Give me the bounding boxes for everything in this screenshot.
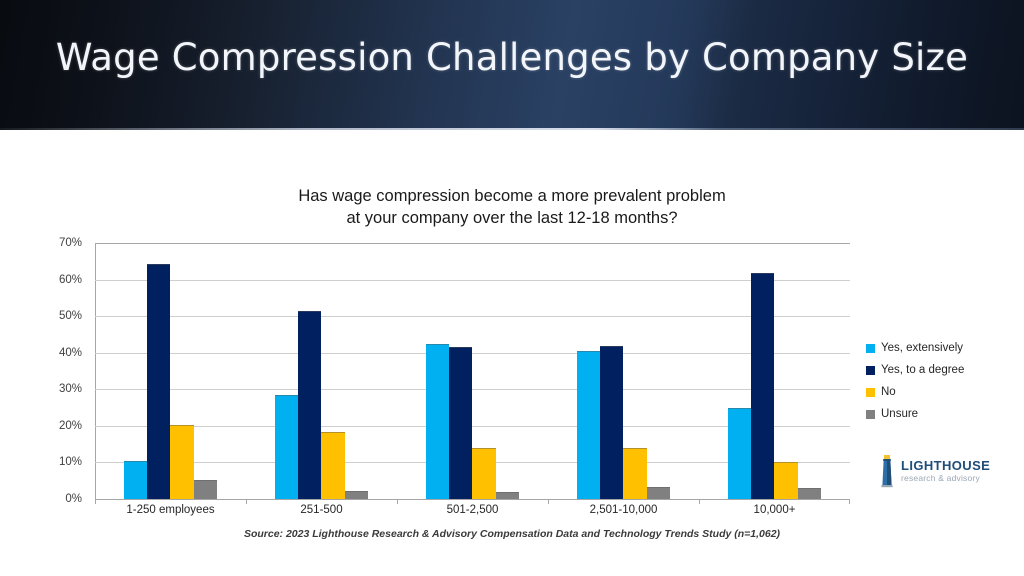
slide-header-banner: Wage Compression Challenges by Company S… bbox=[0, 0, 1024, 130]
chart-title-line-1: Has wage compression become a more preva… bbox=[112, 185, 912, 207]
legend-label: Unsure bbox=[881, 408, 918, 420]
x-axis-category-label: 251-500 bbox=[300, 504, 342, 516]
x-axis-category-labels: 1-250 employees251-500501-2,5002,501-10,… bbox=[95, 504, 850, 524]
bar bbox=[472, 448, 495, 499]
source-note: Source: 2023 Lighthouse Research & Advis… bbox=[0, 528, 1024, 540]
page-title: Wage Compression Challenges by Company S… bbox=[0, 36, 1024, 79]
bar bbox=[647, 487, 670, 499]
bar-top-edge bbox=[194, 480, 217, 481]
plot-area bbox=[95, 243, 850, 499]
x-axis-category-label: 10,000+ bbox=[754, 504, 796, 516]
bar bbox=[321, 432, 344, 499]
chart-region: Has wage compression become a more preva… bbox=[0, 130, 1024, 576]
legend-swatch-icon bbox=[866, 410, 875, 419]
legend-item[interactable]: Unsure bbox=[866, 403, 1016, 425]
legend-swatch-icon bbox=[866, 344, 875, 353]
bar bbox=[774, 462, 797, 499]
bar bbox=[426, 344, 449, 499]
bar-group bbox=[124, 243, 218, 499]
chart-title: Has wage compression become a more preva… bbox=[112, 185, 912, 230]
bar bbox=[751, 273, 774, 499]
lighthouse-icon bbox=[878, 454, 896, 488]
y-axis-tick-label: 20% bbox=[59, 420, 82, 432]
logo-tagline: research & advisory bbox=[901, 473, 990, 483]
bars-layer bbox=[95, 243, 850, 499]
chart-title-line-2: at your company over the last 12-18 mont… bbox=[112, 207, 912, 229]
bar bbox=[577, 351, 600, 499]
bar bbox=[623, 448, 646, 499]
bar-group bbox=[728, 243, 822, 499]
bar-group bbox=[577, 243, 671, 499]
y-axis-labels: 0%10%20%30%40%50%60%70% bbox=[0, 243, 88, 500]
x-axis-category-label: 501-2,500 bbox=[447, 504, 499, 516]
legend-label: No bbox=[881, 386, 896, 398]
bar bbox=[496, 492, 519, 499]
bar-top-edge bbox=[124, 461, 147, 462]
bar-group bbox=[426, 243, 520, 499]
legend-item[interactable]: Yes, to a degree bbox=[866, 359, 1016, 381]
bar-top-edge bbox=[449, 347, 472, 348]
bar bbox=[600, 346, 623, 499]
bar bbox=[147, 264, 170, 499]
brand-logo: LIGHTHOUSE research & advisory bbox=[878, 450, 998, 492]
bar bbox=[449, 347, 472, 499]
bar bbox=[194, 480, 217, 499]
bar-top-edge bbox=[426, 344, 449, 345]
bar-top-edge bbox=[298, 311, 321, 312]
bar bbox=[298, 311, 321, 499]
bar-top-edge bbox=[496, 492, 519, 493]
x-axis-line bbox=[95, 499, 850, 500]
y-axis-tick-label: 60% bbox=[59, 274, 82, 286]
bar-top-edge bbox=[170, 425, 193, 426]
bar bbox=[124, 461, 147, 499]
bar-top-edge bbox=[600, 346, 623, 347]
legend-label: Yes, to a degree bbox=[881, 364, 964, 376]
y-axis-tick-label: 10% bbox=[59, 456, 82, 468]
y-axis-tick-label: 30% bbox=[59, 383, 82, 395]
bar-top-edge bbox=[751, 273, 774, 274]
bar-top-edge bbox=[321, 432, 344, 433]
bar-top-edge bbox=[774, 462, 797, 463]
bar bbox=[728, 408, 751, 499]
bar bbox=[798, 488, 821, 499]
bar-top-edge bbox=[345, 491, 368, 492]
legend-label: Yes, extensively bbox=[881, 342, 963, 354]
bar-group bbox=[275, 243, 369, 499]
y-axis-tick-label: 0% bbox=[65, 493, 82, 505]
bar-top-edge bbox=[472, 448, 495, 449]
y-axis-tick-label: 70% bbox=[59, 237, 82, 249]
logo-text: LIGHTHOUSE research & advisory bbox=[901, 459, 990, 483]
x-axis-category-label: 2,501-10,000 bbox=[590, 504, 658, 516]
chart-legend: Yes, extensivelyYes, to a degreeNoUnsure bbox=[866, 337, 1016, 425]
bar bbox=[275, 395, 298, 499]
bar bbox=[345, 491, 368, 499]
legend-item[interactable]: Yes, extensively bbox=[866, 337, 1016, 359]
bar bbox=[170, 425, 193, 499]
legend-swatch-icon bbox=[866, 366, 875, 375]
logo-name: LIGHTHOUSE bbox=[901, 459, 990, 473]
bar-top-edge bbox=[577, 351, 600, 352]
bar-top-edge bbox=[147, 264, 170, 265]
bar-top-edge bbox=[275, 395, 298, 396]
y-axis-tick-label: 40% bbox=[59, 347, 82, 359]
bar-top-edge bbox=[623, 448, 646, 449]
bar-top-edge bbox=[728, 408, 751, 409]
bar-top-edge bbox=[647, 487, 670, 488]
bar-top-edge bbox=[798, 488, 821, 489]
legend-swatch-icon bbox=[866, 388, 875, 397]
legend-item[interactable]: No bbox=[866, 381, 1016, 403]
y-axis-tick-label: 50% bbox=[59, 310, 82, 322]
x-axis-category-label: 1-250 employees bbox=[126, 504, 214, 516]
